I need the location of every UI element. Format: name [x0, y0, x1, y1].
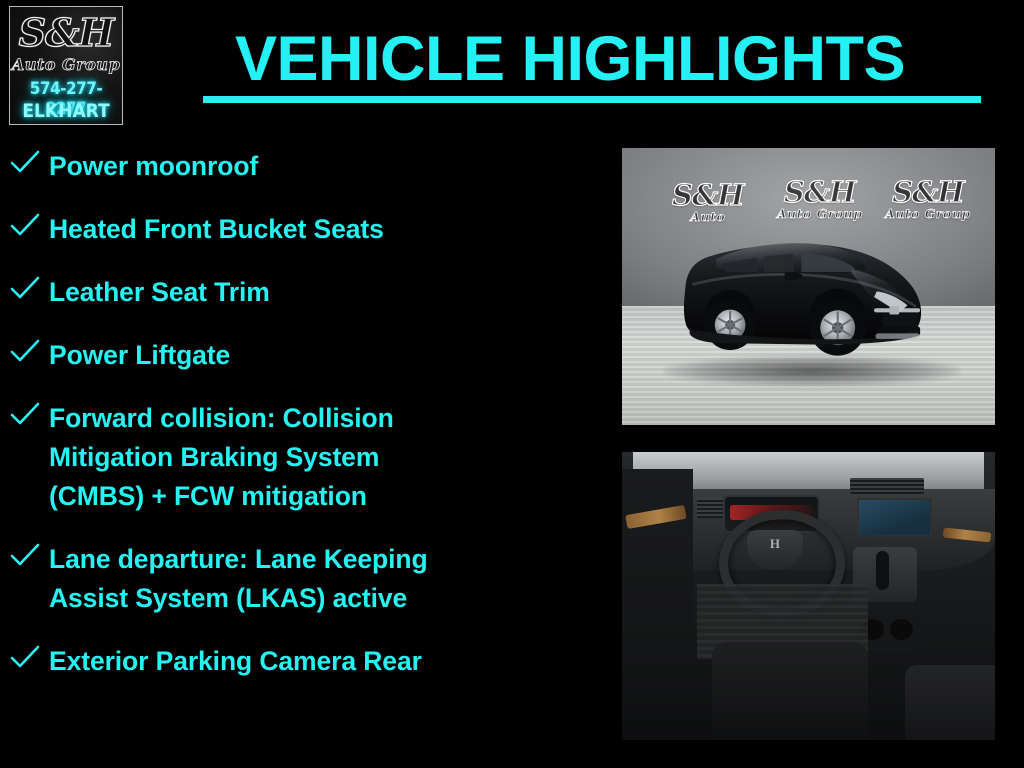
driver-seat-leather — [712, 642, 869, 740]
vehicle-interior-photo — [622, 452, 995, 740]
air-vent — [850, 478, 925, 494]
vehicle-feature-list: Power moonroof Heated Front Bucket Seats… — [10, 147, 570, 705]
list-item-label: Power Liftgate — [49, 336, 570, 375]
list-item-label: Lane departure: Lane Keeping Assist Syst… — [49, 540, 570, 618]
vehicle-exterior-photo: S&H Auto S&H Auto Group S&H Auto Group — [622, 148, 995, 425]
page-title: VEHICLE HIGHLIGHTS — [140, 26, 1000, 92]
list-item-label: Exterior Parking Camera Rear — [49, 642, 570, 681]
list-item-label: Heated Front Bucket Seats — [49, 210, 570, 249]
check-icon — [10, 147, 40, 176]
passenger-seat-leather — [905, 665, 995, 740]
list-item: Exterior Parking Camera Rear — [10, 642, 570, 681]
list-item: Heated Front Bucket Seats — [10, 210, 570, 249]
dealer-brand-subtitle: Auto Group — [10, 55, 122, 74]
list-item: Leather Seat Trim — [10, 273, 570, 312]
dealer-brand-script: S&H — [10, 11, 122, 55]
suv-silhouette — [641, 209, 962, 370]
check-icon — [10, 336, 40, 365]
list-item-label: Power moonroof — [49, 147, 570, 186]
infotainment-screen — [857, 498, 932, 537]
list-item-label: Leather Seat Trim — [49, 273, 570, 312]
list-item: Power Liftgate — [10, 336, 570, 375]
check-icon — [10, 642, 40, 671]
air-vent — [697, 498, 723, 518]
list-item: Power moonroof — [10, 147, 570, 186]
check-icon — [10, 399, 40, 428]
driver-door-panel — [622, 469, 693, 648]
check-icon — [10, 210, 40, 239]
dealer-logo-badge: S&H Auto Group 574-277-2277 ELKHART — [9, 6, 123, 125]
dealer-city: ELKHART — [10, 100, 122, 122]
check-icon — [10, 540, 40, 569]
list-item: Lane departure: Lane Keeping Assist Syst… — [10, 540, 570, 618]
list-item: Forward collision: Collision Mitigation … — [10, 399, 570, 516]
list-item-label: Forward collision: Collision Mitigation … — [49, 399, 570, 516]
check-icon — [10, 273, 40, 302]
title-underline — [203, 96, 981, 103]
